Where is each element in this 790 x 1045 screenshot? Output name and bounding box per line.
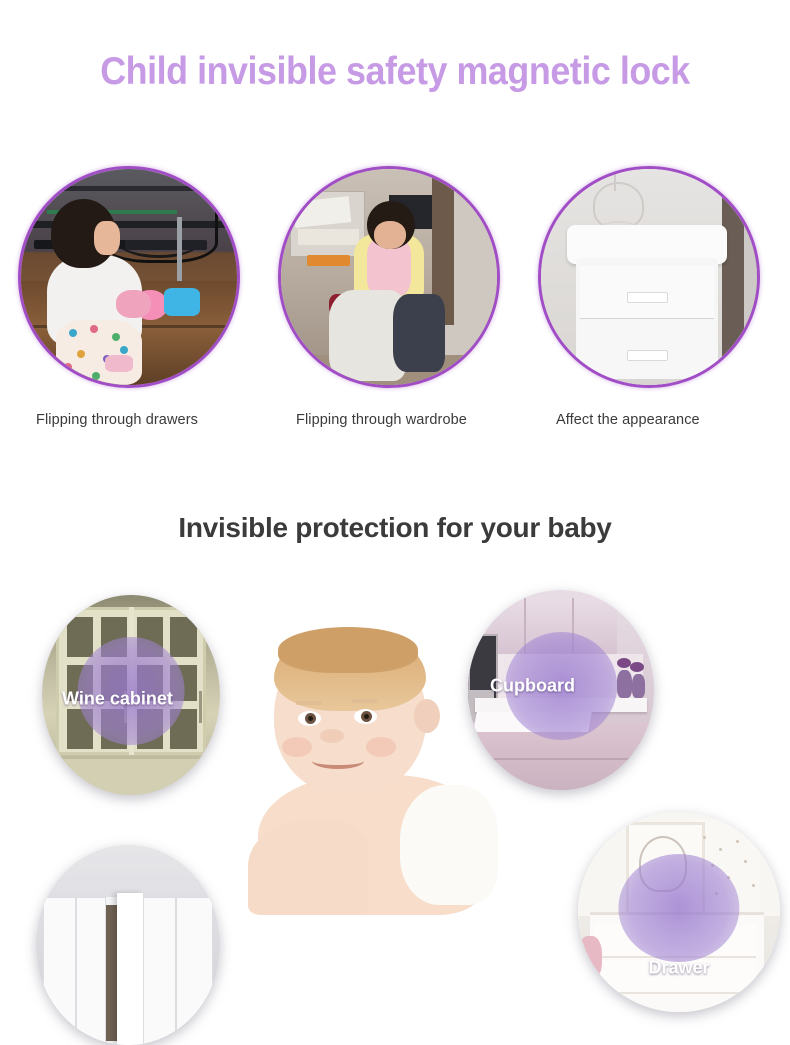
problem-item-drawers[interactable]: Flipping through drawers: [18, 166, 248, 388]
problem-photo-drawers[interactable]: [18, 166, 240, 388]
magnetic-lock-glow: [618, 854, 739, 962]
problem-item-wardrobe[interactable]: Flipping through wardrobe: [278, 166, 508, 388]
scene-white-nightstand: [541, 169, 757, 385]
showcase-spot-drawer[interactable]: Drawer: [578, 812, 780, 1012]
problem-caption: Flipping through wardrobe: [296, 412, 467, 428]
section-heading: Invisible protection for your baby: [0, 512, 790, 544]
scene-toddler-pulling-clothes: [281, 169, 497, 385]
page-title: Child invisible safety magnetic lock: [32, 50, 759, 94]
problem-row: Flipping through drawers: [0, 166, 790, 446]
showcase-label-drawer: Drawer: [578, 958, 780, 979]
showcase-spot-wardrobe[interactable]: [36, 845, 220, 1045]
problem-photo-wardrobe[interactable]: [278, 166, 500, 388]
problem-photo-appearance[interactable]: [538, 166, 760, 388]
problem-item-appearance[interactable]: Affect the appearance: [538, 166, 768, 388]
scene-baby-at-av-cabinet: [21, 169, 237, 385]
problem-caption: Flipping through drawers: [36, 412, 198, 428]
showcase-spot-wine-cabinet[interactable]: Wine cabinet: [42, 595, 220, 795]
showcase-label-wine-cabinet: Wine cabinet: [42, 689, 220, 710]
center-baby-image: [248, 625, 498, 909]
problem-caption: Affect the appearance: [556, 412, 700, 428]
